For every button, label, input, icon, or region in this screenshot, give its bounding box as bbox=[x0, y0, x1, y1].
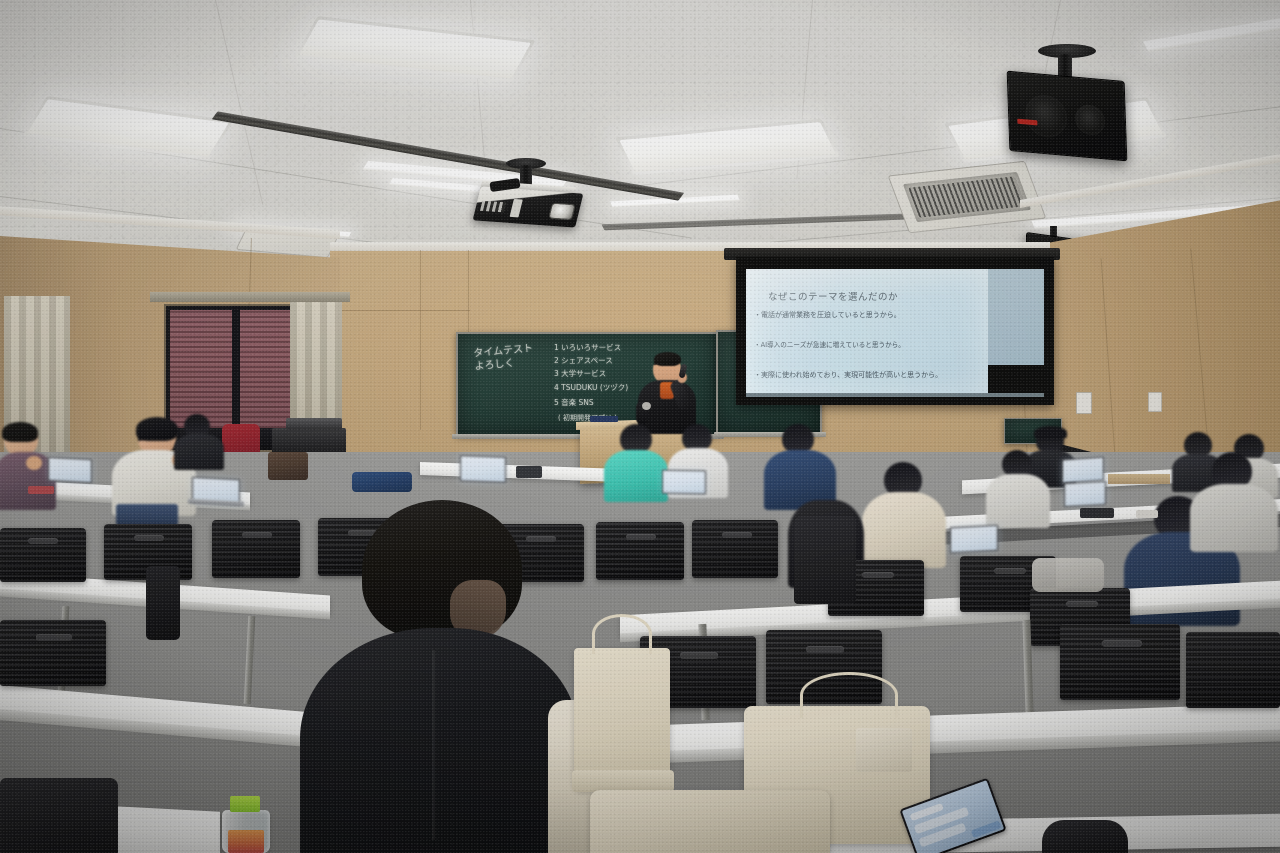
tote-base bbox=[572, 770, 674, 792]
bag-brown[interactable] bbox=[268, 452, 308, 480]
slide-title: なぜこのテーマを選んだのか bbox=[768, 289, 898, 303]
projector-vent bbox=[510, 199, 523, 218]
laptop[interactable] bbox=[662, 470, 706, 495]
projection-screen: なぜこのテーマを選んだのか ・電話が通常業務を圧迫していると思うから。 ・AI導… bbox=[736, 257, 1054, 405]
chair-handle bbox=[36, 634, 72, 641]
ac-grille bbox=[908, 176, 1025, 217]
wall-seam bbox=[468, 250, 469, 336]
shirt-seam bbox=[432, 650, 435, 840]
chair[interactable] bbox=[596, 522, 684, 580]
headphones[interactable] bbox=[1042, 820, 1128, 853]
slide-bullet: ・電話が通常業務を圧迫していると思うから。 bbox=[754, 310, 901, 320]
laptop[interactable] bbox=[1062, 457, 1104, 484]
screen-spill bbox=[988, 269, 1044, 365]
wall-switch-plate[interactable] bbox=[1076, 392, 1092, 414]
blackboard-list: 2 シェアスペース bbox=[554, 356, 613, 365]
student-torso bbox=[862, 492, 946, 568]
window-pane-left bbox=[170, 310, 232, 428]
projector-controls[interactable] bbox=[480, 201, 506, 213]
chair-handle bbox=[28, 538, 58, 544]
chair-handle bbox=[134, 535, 164, 541]
water-bottle[interactable] bbox=[222, 810, 270, 853]
screen-canvas: なぜこのテーマを選んだのか ・電話が通常業務を圧迫していると思うから。 ・AI導… bbox=[746, 269, 988, 393]
curtain-rail bbox=[150, 292, 350, 302]
chair-handle bbox=[680, 652, 718, 659]
blackboard-list: 1 いろいろサービス bbox=[554, 343, 621, 352]
bag-dark[interactable] bbox=[0, 778, 118, 853]
wall-outlet-plate[interactable] bbox=[1148, 392, 1162, 412]
student-back-dark bbox=[172, 414, 228, 474]
chair-handle bbox=[1066, 601, 1098, 607]
speaker-brand-badge bbox=[1017, 119, 1037, 126]
chair[interactable] bbox=[0, 528, 86, 582]
wall-seam bbox=[420, 250, 421, 430]
chair-handle bbox=[1102, 640, 1142, 647]
equipment-cart bbox=[272, 428, 346, 454]
wall-seam bbox=[330, 310, 470, 311]
tote-handle[interactable] bbox=[800, 672, 898, 718]
chair-handle bbox=[242, 532, 272, 538]
projector-body bbox=[473, 186, 584, 227]
student-torso bbox=[300, 628, 578, 853]
presenter-hair bbox=[654, 352, 681, 366]
student-cream-sweater-2 bbox=[986, 450, 1052, 526]
lecture-hall-photo: タイムテスト よろしく 1 いろいろサービス 2 シェアスペース 3 大学サービ… bbox=[0, 0, 1280, 853]
desk-item bbox=[1136, 510, 1158, 518]
chair[interactable] bbox=[1186, 632, 1280, 708]
blackboard-list: 3 大学サービス bbox=[554, 369, 606, 378]
student-teal-sweater bbox=[604, 424, 670, 498]
podium-item bbox=[590, 416, 618, 422]
chair[interactable] bbox=[1060, 624, 1180, 700]
ac-inner-panel bbox=[903, 172, 1031, 222]
tote-bag[interactable] bbox=[574, 648, 670, 790]
student-torso bbox=[1190, 484, 1278, 552]
blackboard-list: 5 音楽 SNS bbox=[554, 398, 594, 407]
student-jeans bbox=[116, 504, 178, 526]
screen-spill bbox=[746, 393, 1044, 397]
student-grey-hoodie bbox=[1190, 452, 1278, 550]
chair-handle bbox=[722, 532, 752, 538]
laptop[interactable] bbox=[460, 455, 506, 483]
chair-handle bbox=[626, 534, 656, 540]
student-torso bbox=[604, 450, 668, 502]
ceiling-speaker-right bbox=[1008, 44, 1130, 160]
chair[interactable] bbox=[692, 520, 778, 578]
chair-handle bbox=[994, 568, 1026, 574]
scarf-grey[interactable] bbox=[1032, 558, 1104, 592]
student-hand bbox=[26, 456, 42, 470]
student-hair bbox=[2, 422, 38, 442]
student-cap bbox=[1034, 426, 1067, 439]
projector-lens bbox=[548, 203, 576, 221]
side-table bbox=[1108, 474, 1170, 484]
laptop[interactable] bbox=[48, 457, 92, 483]
bag-hanging[interactable] bbox=[146, 566, 180, 640]
chair[interactable] bbox=[0, 620, 106, 686]
speaker-tweeter bbox=[1075, 104, 1106, 137]
tote-handle[interactable] bbox=[592, 614, 652, 654]
student-foreground-black bbox=[300, 500, 580, 853]
presenter-sleeve-logo bbox=[642, 402, 651, 410]
tote-print bbox=[856, 728, 912, 772]
blackboard-list: 4 TSUDUKU (ツヅク) bbox=[554, 383, 628, 392]
speaker-body bbox=[1007, 71, 1128, 162]
coat-on-chair[interactable] bbox=[794, 516, 856, 604]
bottle-label bbox=[228, 830, 264, 853]
pencil-case[interactable] bbox=[28, 486, 54, 494]
slide-bullet: ・実際に使われ始めており、実現可能性が高いと思うから。 bbox=[754, 370, 942, 380]
ceiling-projector-center bbox=[492, 158, 562, 236]
laptop[interactable] bbox=[1064, 481, 1106, 507]
laptop[interactable] bbox=[950, 525, 998, 554]
bag-blue[interactable] bbox=[352, 472, 412, 492]
desk-item bbox=[1080, 508, 1114, 518]
student-beige-coat bbox=[862, 462, 948, 572]
speaker-woofer bbox=[1024, 93, 1067, 139]
bottle-cap[interactable] bbox=[230, 796, 260, 812]
equipment-box bbox=[286, 418, 342, 430]
blackboard-heading: タイムテスト よろしく bbox=[473, 343, 535, 373]
chair-handle bbox=[862, 572, 894, 578]
student-torso bbox=[986, 474, 1050, 528]
presenter bbox=[636, 354, 708, 430]
slide-bullet: ・AI導入のニーズが急速に増えていると思うから。 bbox=[754, 339, 905, 349]
chair-handle bbox=[806, 646, 844, 653]
desk-item bbox=[516, 466, 542, 478]
tote-bag[interactable] bbox=[590, 790, 830, 853]
chair[interactable] bbox=[212, 520, 300, 578]
student-torso bbox=[174, 434, 224, 470]
